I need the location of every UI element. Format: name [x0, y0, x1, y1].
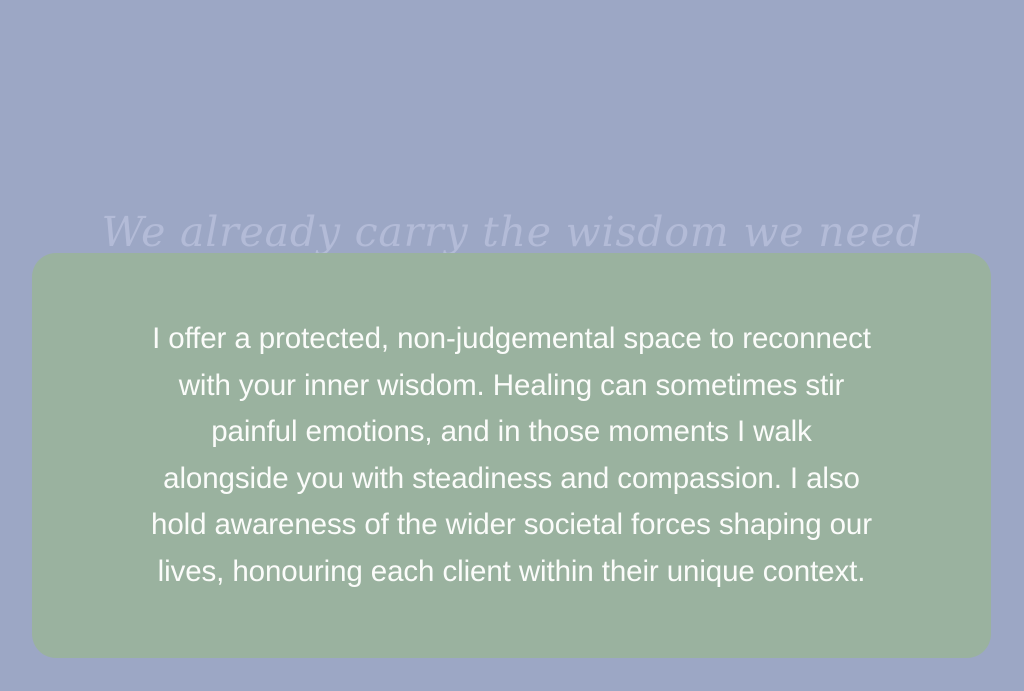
page-root: We already carry the wisdom we need —the… [0, 0, 1024, 691]
statement-card-body-text: I offer a protected, non-judgemental spa… [57, 316, 967, 595]
statement-card: I offer a protected, non-judgemental spa… [32, 253, 991, 658]
